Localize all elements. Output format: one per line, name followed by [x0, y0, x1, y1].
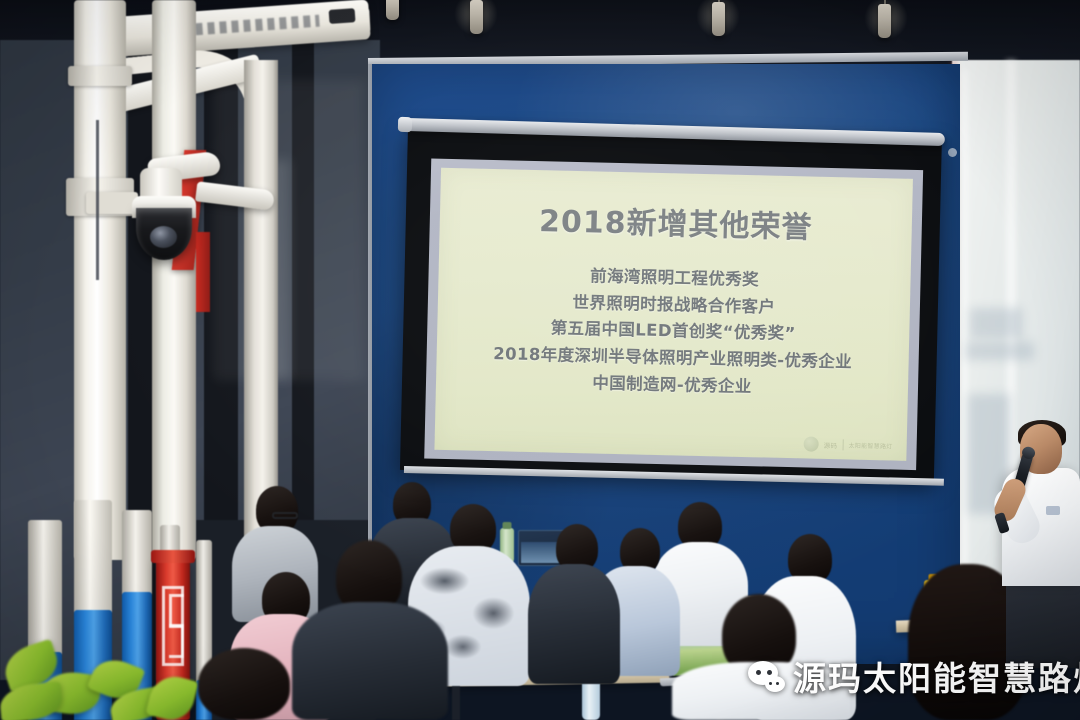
conference-photo: 2018新增其他荣誉 前海湾照明工程优秀奖 世界照明时报战略合作客户 第五届中国… [0, 0, 1080, 720]
wall-fixture-dot [948, 148, 957, 157]
slide-body: 前海湾照明工程优秀奖 世界照明时报战略合作客户 第五届中国LED首创奖“优秀奖”… [436, 260, 911, 405]
wechat-eye-small [776, 682, 780, 686]
logo-text-secondary: 太阳能智慧路灯 [848, 440, 892, 450]
track-light-fixture [470, 0, 483, 34]
audience-member-body [528, 564, 620, 684]
red-mounting-bracket-lower [196, 232, 210, 312]
chinese-fret-pattern [162, 586, 184, 666]
street-light-pole-third [244, 60, 278, 560]
wechat-eye [756, 670, 761, 675]
presentation-slide: 2018新增其他荣誉 前海湾照明工程优秀奖 世界照明时报战略合作客户 第五届中国… [434, 168, 913, 461]
audience-member-head [198, 648, 290, 720]
arm-camera-box [329, 8, 356, 24]
screen-projection-area: 2018新增其他荣誉 前海湾照明工程优秀奖 世界照明时报战略合作客户 第五届中国… [424, 159, 923, 471]
projection-screen: 2018新增其他荣誉 前海湾照明工程优秀奖 世界照明时报战略合作客户 第五届中国… [400, 128, 942, 482]
logo-mark-icon [804, 436, 819, 451]
pole-collar [68, 66, 132, 86]
slide-title: 2018新增其他荣誉 [439, 194, 912, 249]
logo-text-primary: 源码 [824, 439, 838, 449]
track-light-fixture [878, 4, 891, 38]
presenter-shirt-logo [1046, 506, 1060, 515]
roller-end-knob [398, 117, 412, 132]
camera-lens-icon [150, 226, 177, 248]
wechat-eye [767, 670, 772, 675]
wechat-bubble-small [765, 676, 785, 692]
pole-cable [96, 120, 99, 280]
water-bottle [582, 678, 600, 720]
audience-member-body [292, 602, 448, 720]
wechat-eye-small [769, 682, 773, 686]
pole-top-arm [99, 0, 371, 58]
wechat-icon [744, 660, 784, 692]
track-light-fixture [712, 2, 725, 36]
slide-corner-logo: 源码 太阳能智慧路灯 [804, 436, 893, 453]
eyeglasses-icon [272, 512, 298, 519]
watermark-text: 源玛太阳能智慧路灯 [793, 652, 1080, 700]
logo-divider [842, 439, 843, 450]
watermark: 源玛太阳能智慧路灯 [744, 652, 1080, 700]
lamp-post-cap [151, 550, 195, 563]
street-light-pole-second [152, 0, 196, 560]
pole-mount-bracket [86, 192, 138, 214]
